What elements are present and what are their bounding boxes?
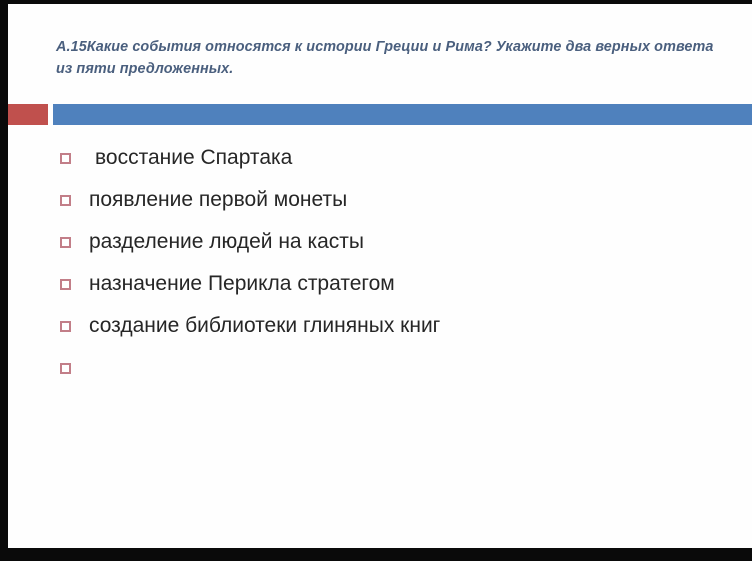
answer-options-list: восстание Спартака появление первой моне… (60, 137, 740, 389)
slide-canvas: А.15Какие события относятся к истории Гр… (8, 4, 752, 548)
list-item[interactable]: назначение Перикла стратегом (60, 263, 740, 305)
slide-title-line-1: А.15Какие события относятся к истории Гр… (56, 37, 716, 57)
slide-title-line-2: из пяти предложенных. (56, 59, 716, 79)
list-item[interactable]: появление первой монеты (60, 179, 740, 221)
list-item-empty[interactable] (60, 347, 740, 389)
square-bullet-icon (60, 279, 71, 290)
square-bullet-icon (60, 237, 71, 248)
list-item[interactable]: разделение людей на касты (60, 221, 740, 263)
slide-frame: А.15Какие события относятся к истории Гр… (0, 0, 752, 561)
slide-title: А.15Какие события относятся к истории Гр… (56, 37, 716, 79)
divider-bar-blue (53, 104, 752, 125)
square-bullet-icon (60, 153, 71, 164)
list-item-label: создание библиотеки глиняных книг (89, 314, 440, 338)
square-bullet-icon (60, 195, 71, 206)
list-item[interactable]: создание библиотеки глиняных книг (60, 305, 740, 347)
list-item-label: появление первой монеты (89, 188, 347, 212)
divider-bar-red (8, 104, 48, 125)
list-item-label: разделение людей на касты (89, 230, 364, 254)
square-bullet-icon (60, 363, 71, 374)
square-bullet-icon (60, 321, 71, 332)
list-item-label: восстание Спартака (89, 146, 292, 170)
list-item[interactable]: восстание Спартака (60, 137, 740, 179)
list-item-label: назначение Перикла стратегом (89, 272, 395, 296)
